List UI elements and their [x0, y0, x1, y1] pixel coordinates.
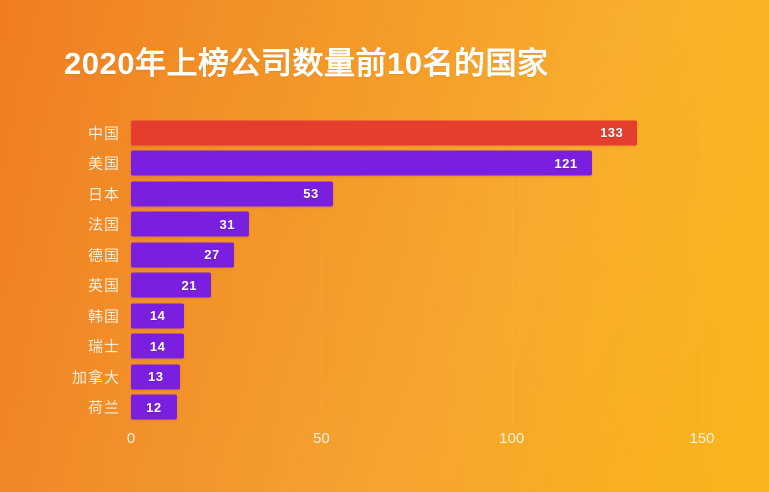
category-label: 美国 — [88, 153, 120, 174]
category-label: 德国 — [88, 244, 120, 265]
x-tick-label: 100 — [499, 430, 524, 447]
bar-row: 美国121 — [0, 148, 769, 179]
bar[interactable]: 12 — [131, 395, 177, 420]
x-tick-label: 150 — [689, 430, 714, 447]
bar-value-label: 31 — [220, 217, 235, 232]
x-tick-label: 50 — [313, 430, 330, 447]
bar-row: 加拿大13 — [0, 362, 769, 393]
bar[interactable]: 13 — [131, 364, 180, 389]
bar-row: 法国31 — [0, 209, 769, 240]
x-tick-label: 0 — [127, 430, 135, 447]
bar-row: 中国133 — [0, 118, 769, 149]
bar-row: 德国27 — [0, 240, 769, 271]
bar-row: 韩国14 — [0, 301, 769, 332]
bar-value-label: 27 — [204, 247, 219, 262]
bar-row: 荷兰12 — [0, 392, 769, 423]
bar[interactable]: 121 — [131, 151, 592, 176]
plot-area: 中国133美国121日本53法国31德国27英国21韩国14瑞士14加拿大13荷… — [0, 0, 769, 492]
bar-row: 英国21 — [0, 270, 769, 301]
bar-value-label: 12 — [146, 400, 161, 415]
bar-value-label: 133 — [600, 125, 623, 140]
bar[interactable]: 21 — [131, 273, 211, 298]
bar-value-label: 13 — [148, 369, 163, 384]
category-label: 英国 — [88, 275, 120, 296]
x-axis: 050100150 — [0, 430, 769, 460]
bar-row: 瑞士14 — [0, 331, 769, 362]
category-label: 法国 — [88, 214, 120, 235]
bar[interactable]: 133 — [131, 120, 637, 145]
category-label: 中国 — [88, 122, 120, 143]
category-label: 荷兰 — [88, 397, 120, 418]
bar[interactable]: 27 — [131, 242, 234, 267]
category-label: 加拿大 — [72, 366, 120, 387]
bar-value-label: 14 — [150, 308, 165, 323]
bar[interactable]: 31 — [131, 212, 249, 237]
category-label: 瑞士 — [88, 336, 120, 357]
bar-value-label: 21 — [181, 278, 196, 293]
bar-value-label: 121 — [554, 156, 577, 171]
bar-row: 日本53 — [0, 179, 769, 210]
category-label: 日本 — [88, 183, 120, 204]
chart-container: 2020年上榜公司数量前10名的国家 中国133美国121日本53法国31德国2… — [0, 0, 769, 492]
bar[interactable]: 53 — [131, 181, 333, 206]
bar-value-label: 53 — [303, 186, 318, 201]
bar[interactable]: 14 — [131, 303, 184, 328]
bar[interactable]: 14 — [131, 334, 184, 359]
bar-value-label: 14 — [150, 339, 165, 354]
category-label: 韩国 — [88, 305, 120, 326]
